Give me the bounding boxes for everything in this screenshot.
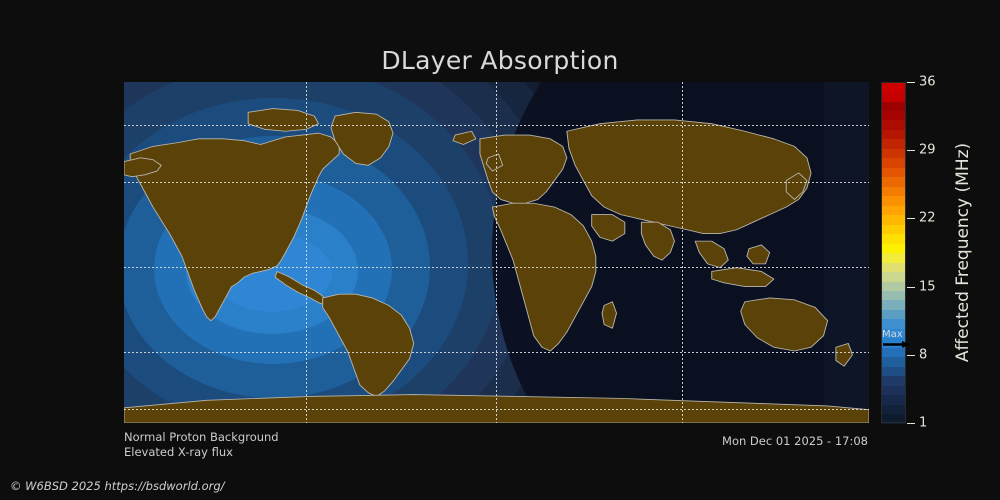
page-title: DLayer Absorption: [0, 46, 1000, 75]
colorbar-max-label: Max: [882, 329, 903, 340]
gridline-lon-90w: [306, 82, 307, 423]
world-map[interactable]: [124, 82, 869, 423]
colorbar-band: [881, 376, 906, 386]
landmass-south-america: [323, 294, 414, 396]
landmass-australia: [741, 298, 828, 351]
colorbar-band: [881, 158, 906, 168]
colorbar-tick: [907, 82, 915, 83]
arrow-right-icon: [883, 341, 911, 348]
colorbar-band: [881, 148, 906, 158]
colorbar-band: [881, 319, 906, 329]
colorbar-band: [881, 414, 906, 424]
colorbar-tick: [907, 355, 915, 356]
colorbar-band: [881, 271, 906, 281]
landmass-philippines: [747, 245, 770, 264]
colorbar-band: [881, 290, 906, 300]
colorbar-band: [881, 120, 906, 130]
colorbar-tick: [907, 150, 915, 151]
colorbar-band: [881, 404, 906, 414]
colorbar-tick: [907, 287, 915, 288]
landmass-greenland: [331, 112, 393, 165]
colorbar-band: [881, 82, 906, 92]
colorbar-band: [881, 224, 906, 234]
colorbar-tick-label: 1: [919, 416, 927, 431]
colorbar-tick-label: 36: [919, 75, 936, 90]
colorbar-tick-label: 15: [919, 279, 936, 294]
landmass-madagascar: [602, 302, 616, 329]
colorbar-band: [881, 186, 906, 196]
colorbar-band: [881, 366, 906, 376]
colorbar-band: [881, 357, 906, 367]
colorbar-tick: [907, 218, 915, 219]
colorbar-axis-label: Affected Frequency (MHz): [953, 82, 973, 423]
colorbar-band: [881, 139, 906, 149]
colorbar-band: [881, 281, 906, 291]
landmass-africa: [492, 203, 595, 351]
colorbar[interactable]: [881, 82, 906, 423]
colorbar-band: [881, 385, 906, 395]
colorbar-band: [881, 215, 906, 225]
colorbar-tick-label: 29: [919, 143, 936, 158]
colorbar-tick: [907, 423, 915, 424]
colorbar-band: [881, 243, 906, 253]
gridline-lon-90e: [682, 82, 683, 423]
colorbar-band: [881, 262, 906, 272]
landmass-new-zealand: [836, 343, 853, 366]
landmass-iceland: [453, 131, 476, 144]
landmass-southeast-asia: [695, 241, 728, 268]
colorbar-band: [881, 196, 906, 206]
colorbar-band: [881, 253, 906, 263]
landmass-central-america: [275, 271, 327, 303]
colorbar-band: [881, 110, 906, 120]
landmass-india: [641, 222, 674, 260]
timestamp: Mon Dec 01 2025 - 17:08: [722, 434, 868, 448]
proton-status-note: Normal Proton Background: [124, 430, 279, 444]
colorbar-band: [881, 101, 906, 111]
xray-status-note: Elevated X-ray flux: [124, 445, 233, 459]
colorbar-band: [881, 234, 906, 244]
gridline-lon-0: [496, 82, 497, 423]
colorbar-band: [881, 91, 906, 101]
colorbar-band: [881, 300, 906, 310]
landmass-indonesia: [712, 268, 774, 287]
colorbar-band: [881, 205, 906, 215]
credit-footer: © W6BSD 2025 https://bsdworld.org/: [10, 479, 225, 493]
landmass-arabia: [592, 215, 625, 242]
colorbar-band: [881, 177, 906, 187]
colorbar-band: [881, 395, 906, 405]
colorbar-tick-label: 8: [919, 347, 927, 362]
landmass-arctic-islands: [248, 109, 318, 132]
colorbar-band: [881, 129, 906, 139]
colorbar-max-marker: Max: [881, 329, 921, 351]
colorbar-band: [881, 309, 906, 319]
colorbar-tick-label: 22: [919, 211, 936, 226]
figure-canvas: DLayer Absorption: [0, 0, 1000, 500]
colorbar-band: [881, 167, 906, 177]
